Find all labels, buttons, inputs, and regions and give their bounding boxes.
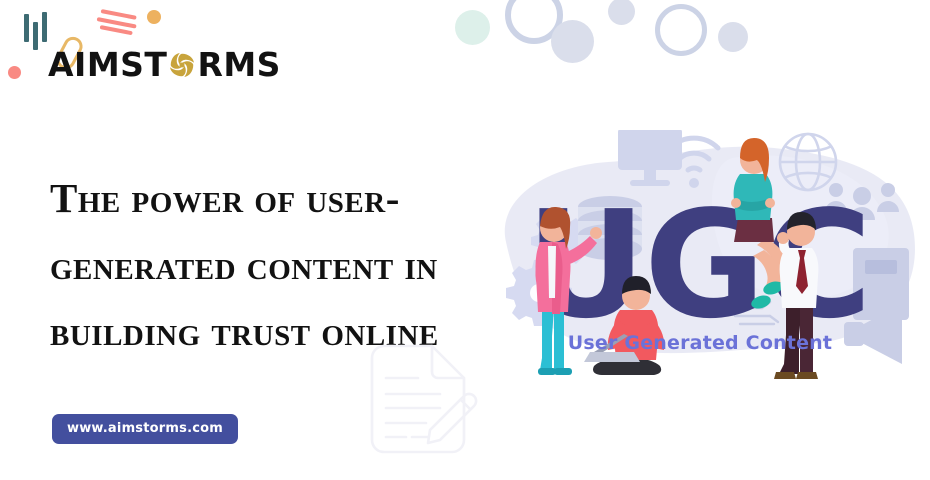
ugc-caption-text: User Generated Content	[470, 332, 930, 354]
ring-circle-decoration	[655, 4, 707, 56]
poster-canvas: AIMST RMS The Power of User-Generated Co…	[0, 0, 930, 480]
ugc-letters: UGC	[526, 179, 870, 351]
brand-logo[interactable]: AIMST RMS	[48, 48, 281, 81]
filled-circle-decoration	[551, 20, 594, 63]
logo-text-part1: AIMST	[48, 48, 167, 81]
website-url-badge[interactable]: www.aimstorms.com	[52, 414, 238, 444]
pink-dot-decoration	[8, 66, 21, 79]
filled-circle-decoration	[608, 0, 635, 25]
mint-circle-decoration	[455, 10, 490, 45]
filled-circle-decoration	[718, 22, 748, 52]
gold-dot-decoration	[147, 10, 161, 24]
teal-bar	[24, 14, 29, 42]
teal-bar	[42, 12, 47, 42]
storm-swirl-icon	[167, 50, 197, 80]
teal-bar	[33, 22, 38, 50]
page-title: The Power of User-Generated Content in B…	[50, 165, 520, 364]
logo-text-part2: RMS	[197, 48, 281, 81]
